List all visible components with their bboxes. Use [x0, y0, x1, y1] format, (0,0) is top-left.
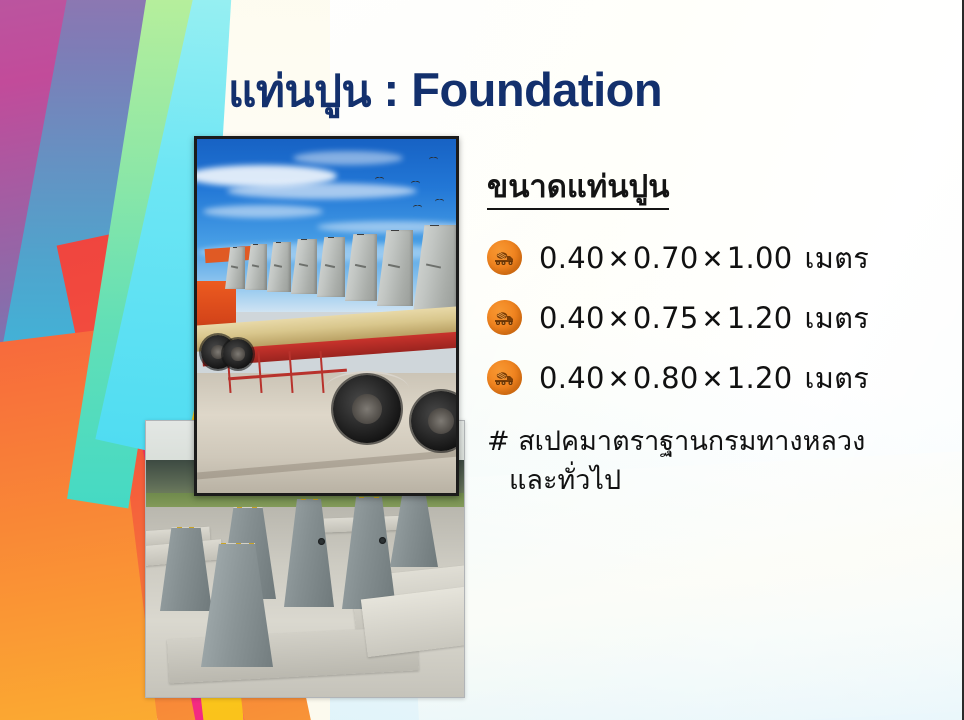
bird-icon — [435, 199, 444, 204]
truck-loaded-with-concrete-foundations-photo — [194, 136, 459, 496]
spec-height: 1.00 — [727, 241, 793, 275]
spec-width: 0.40 — [539, 361, 605, 395]
list-item[interactable]: 0.40✕0.70✕1.00เมตร — [487, 228, 937, 288]
spec-unit: เมตร — [805, 301, 870, 335]
spec-dimension-text: 0.40✕0.70✕1.00เมตร — [539, 235, 869, 281]
spec-height: 1.20 — [727, 301, 793, 335]
multiply-icon: ✕ — [605, 245, 633, 275]
bird-icon — [411, 181, 420, 186]
spec-depth: 0.70 — [633, 241, 699, 275]
page-title-latin: Foundation — [411, 63, 662, 116]
concrete-mixer-truck-icon — [487, 360, 522, 395]
bird-icon — [413, 205, 422, 210]
spec-width: 0.40 — [539, 301, 605, 335]
spec-list: 0.40✕0.70✕1.00เมตร — [487, 228, 937, 408]
bird-icon — [375, 177, 384, 182]
spec-depth: 0.75 — [633, 301, 699, 335]
spec-width: 0.40 — [539, 241, 605, 275]
multiply-icon: ✕ — [699, 305, 727, 335]
page-title-thai: แท่นปูน — [228, 66, 371, 117]
multiply-icon: ✕ — [699, 245, 727, 275]
multiply-icon: ✕ — [605, 365, 633, 395]
footnote-line-2: และทั่วไป — [487, 461, 937, 500]
slide-canvas: แท่นปูน : Foundation — [0, 0, 964, 720]
standards-footnote: # สเปคมาตราฐานกรมทางหลวง และทั่วไป — [487, 422, 937, 500]
page-title-separator: : — [371, 63, 411, 116]
multiply-icon: ✕ — [605, 305, 633, 335]
concrete-mixer-truck-icon — [487, 240, 522, 275]
page-title: แท่นปูน : Foundation — [228, 56, 662, 126]
list-item[interactable]: 0.40✕0.75✕1.20เมตร — [487, 288, 937, 348]
spec-height: 1.20 — [727, 361, 793, 395]
spec-unit: เมตร — [805, 361, 870, 395]
spec-depth: 0.80 — [633, 361, 699, 395]
list-item[interactable]: 0.40✕0.80✕1.20เมตร — [487, 348, 937, 408]
footnote-line-1: # สเปคมาตราฐานกรมทางหลวง — [487, 426, 865, 457]
spec-unit: เมตร — [805, 241, 870, 275]
multiply-icon: ✕ — [699, 365, 727, 395]
concrete-mixer-truck-icon — [487, 300, 522, 335]
bird-icon — [429, 157, 438, 162]
specification-panel: ขนาดแท่นปูน — [487, 168, 937, 500]
spec-heading: ขนาดแท่นปูน — [487, 168, 669, 210]
spec-dimension-text: 0.40✕0.75✕1.20เมตร — [539, 295, 869, 341]
spec-dimension-text: 0.40✕0.80✕1.20เมตร — [539, 355, 869, 401]
